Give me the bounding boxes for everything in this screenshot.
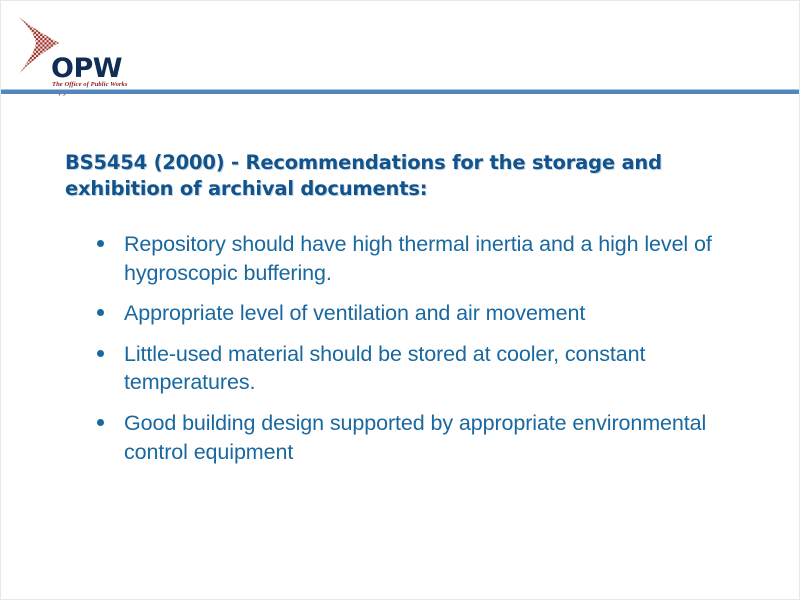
opw-logo: OPW The Office of Public Works Oifig na … [15, 15, 215, 87]
list-item-label: Repository should have high thermal iner… [124, 232, 712, 285]
list-item: Appropriate level of ventilation and air… [91, 299, 741, 328]
logo-tagline-english: The Office of Public Works [52, 82, 128, 89]
bullet-list: Repository should have high thermal iner… [91, 230, 741, 478]
list-item: Little-used material should be stored at… [91, 340, 741, 397]
opw-wordmark: OPW [51, 55, 122, 82]
presentation-slide: OPW The Office of Public Works Oifig na … [0, 0, 800, 600]
slide-title: BS5454 (2000) - Recommendations for the … [65, 150, 725, 202]
list-item-label: Little-used material should be stored at… [124, 342, 645, 395]
list-item-label: Good building design supported by approp… [124, 411, 706, 464]
list-item: Repository should have high thermal iner… [91, 230, 741, 287]
bullet-dot-icon [97, 419, 104, 426]
bullet-dot-icon [97, 309, 104, 316]
header-divider [1, 89, 800, 94]
slide-header: OPW The Office of Public Works Oifig na … [1, 1, 800, 95]
list-item-label: Appropriate level of ventilation and air… [124, 301, 585, 325]
bullet-dot-icon [97, 350, 104, 357]
bullet-dot-icon [97, 240, 104, 247]
list-item: Good building design supported by approp… [91, 409, 741, 466]
